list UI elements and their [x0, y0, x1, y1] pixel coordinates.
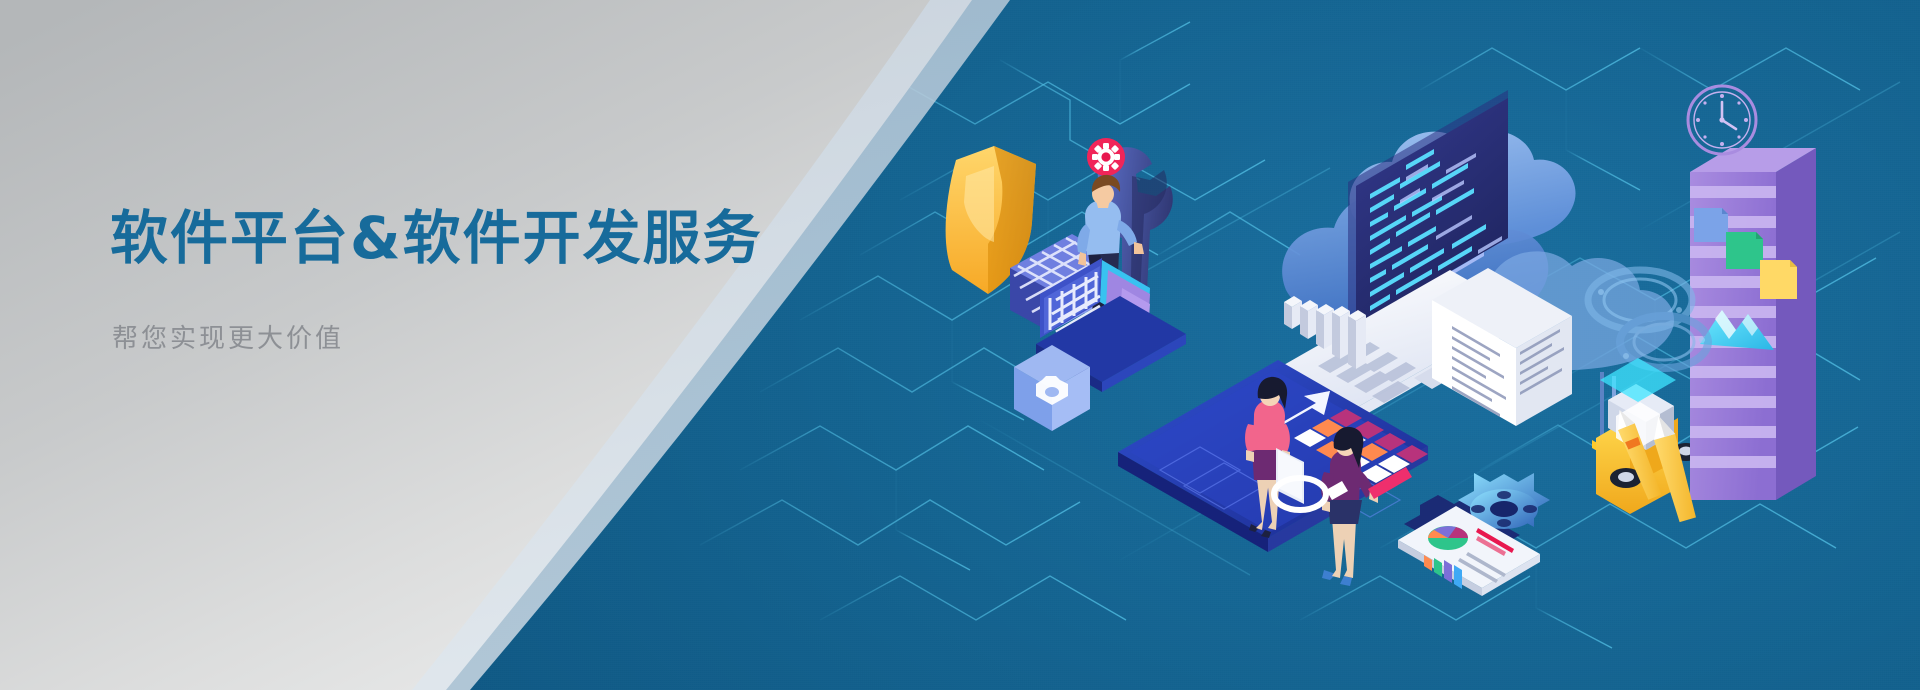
- page-subtitle: 帮您实现更大价值: [112, 318, 870, 355]
- hero-banner: 软件平台&软件开发服务 帮您实现更大价值: [0, 0, 1920, 690]
- page-title: 软件平台&软件开发服务: [110, 205, 870, 272]
- hero-text-block: 软件平台&软件开发服务 帮您实现更大价值: [110, 205, 870, 355]
